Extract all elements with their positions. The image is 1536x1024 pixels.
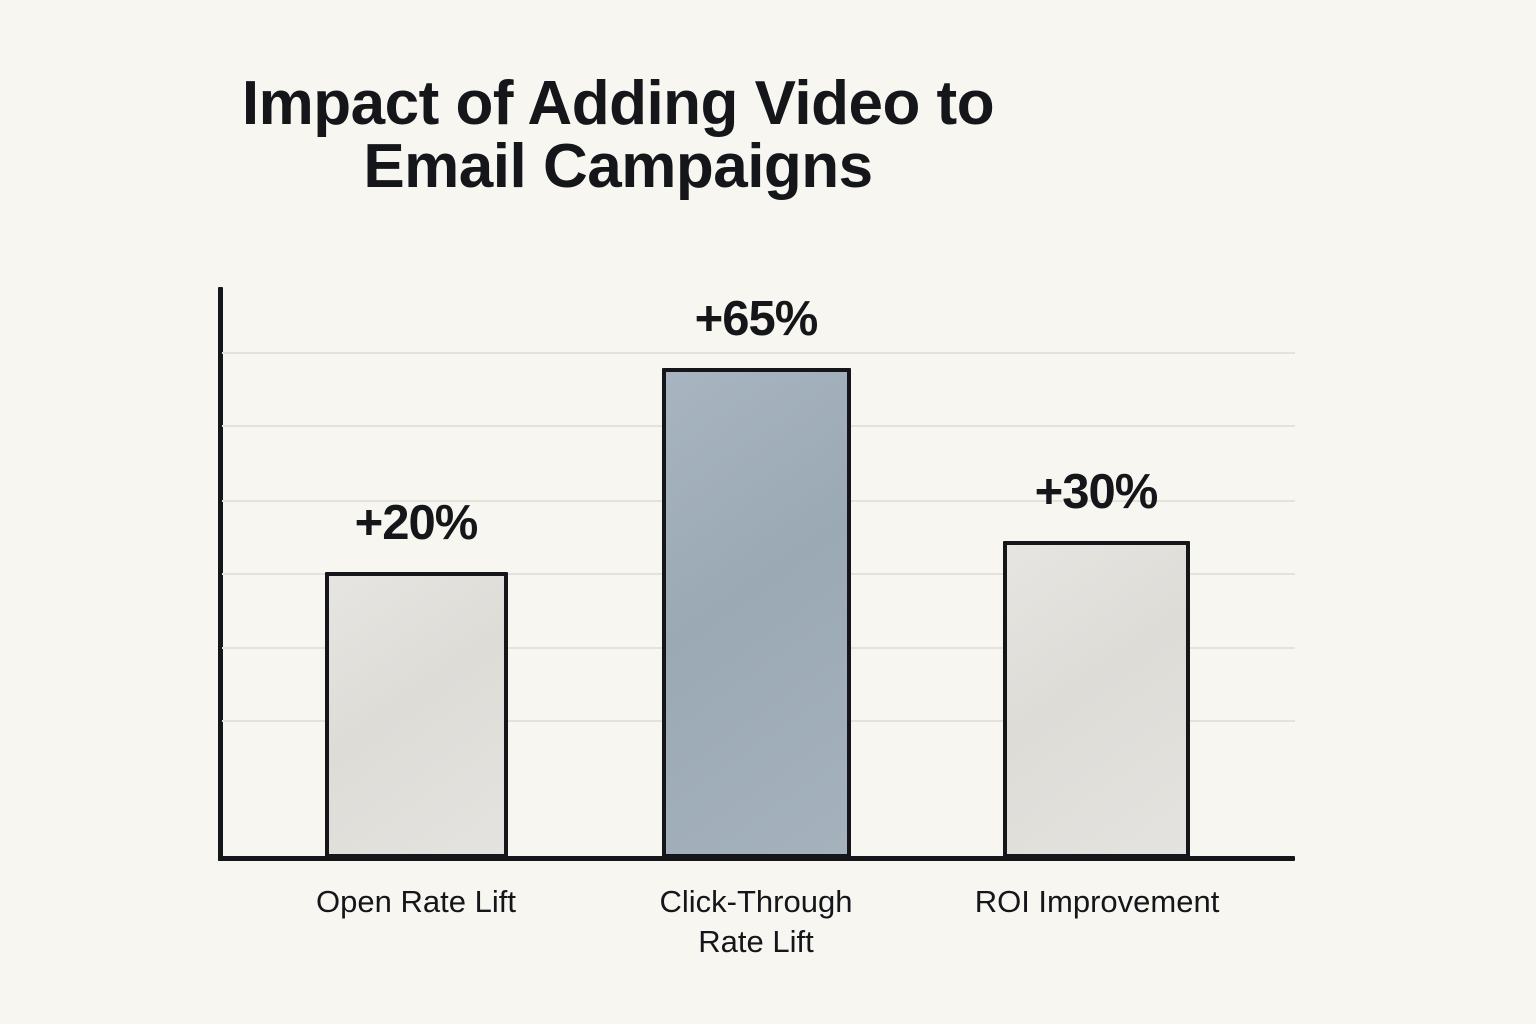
value-label-roi-improvement: +30%	[946, 464, 1246, 520]
chart-title: Impact of Adding Video to Email Campaign…	[118, 72, 1118, 198]
bar-roi-improvement[interactable]	[1003, 541, 1190, 858]
bar-click-through-rate-lift[interactable]	[662, 368, 851, 858]
category-label-open-rate-lift: Open Rate Lift	[236, 882, 596, 922]
gridline	[222, 352, 1295, 354]
value-label-click-through-rate-lift: +65%	[606, 291, 906, 347]
bar-open-rate-lift[interactable]	[325, 572, 508, 858]
value-label-open-rate-lift: +20%	[266, 495, 566, 551]
category-label-click-through-rate-lift: Click-Through Rate Lift	[576, 882, 936, 961]
plot-area	[218, 287, 1295, 861]
chart-figure: Impact of Adding Video to Email Campaign…	[0, 0, 1536, 1024]
category-label-roi-improvement: ROI Improvement	[917, 882, 1277, 922]
